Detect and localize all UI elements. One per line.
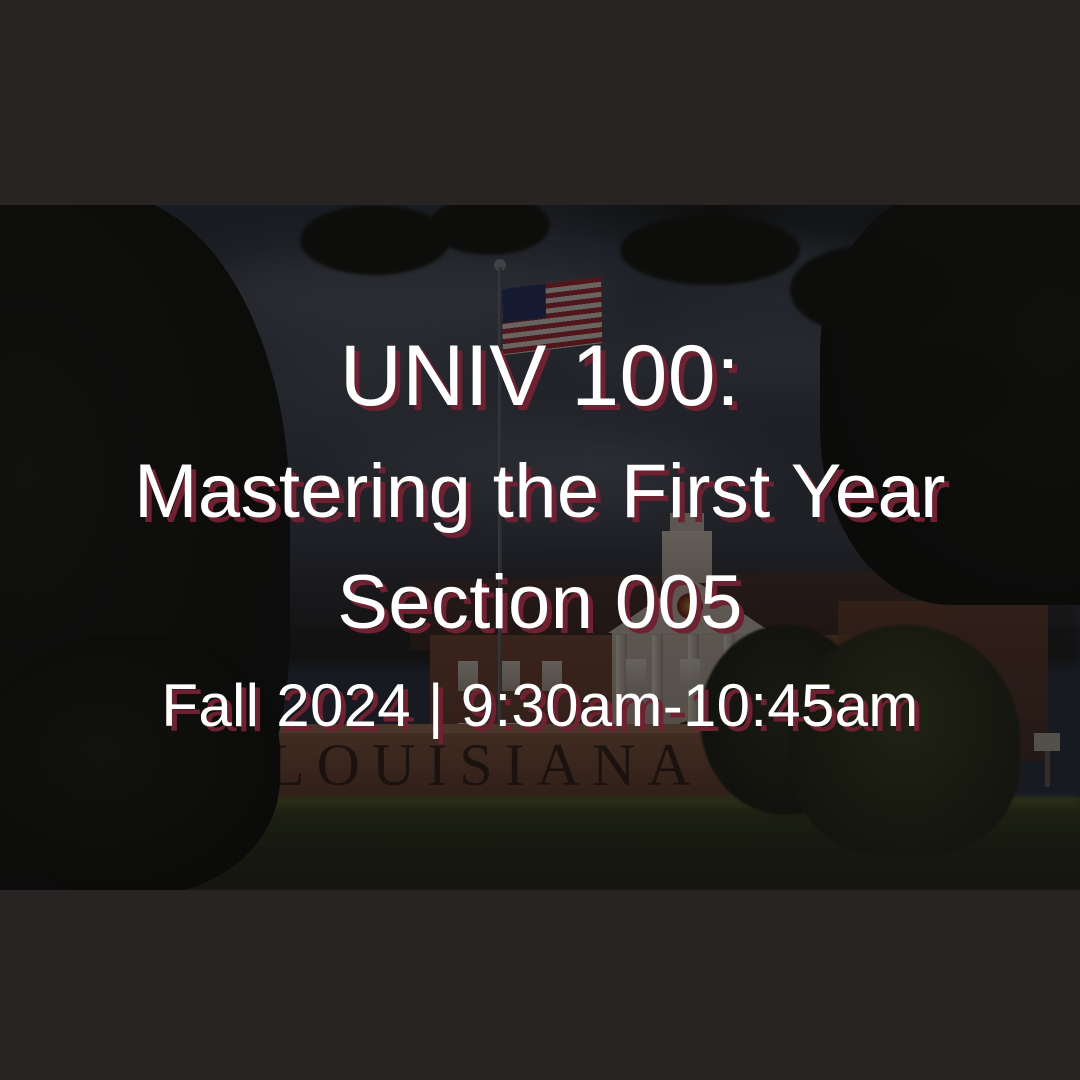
darkening-overlay xyxy=(0,205,1080,890)
title-slide: of UNIVERSITY LOUISIANA LAFAYETTE 1898 U… xyxy=(0,0,1080,1080)
campus-background-photo: of UNIVERSITY LOUISIANA LAFAYETTE 1898 xyxy=(0,205,1080,890)
letterbox-bar-bottom xyxy=(0,890,1080,1080)
letterbox-bar-top xyxy=(0,0,1080,205)
